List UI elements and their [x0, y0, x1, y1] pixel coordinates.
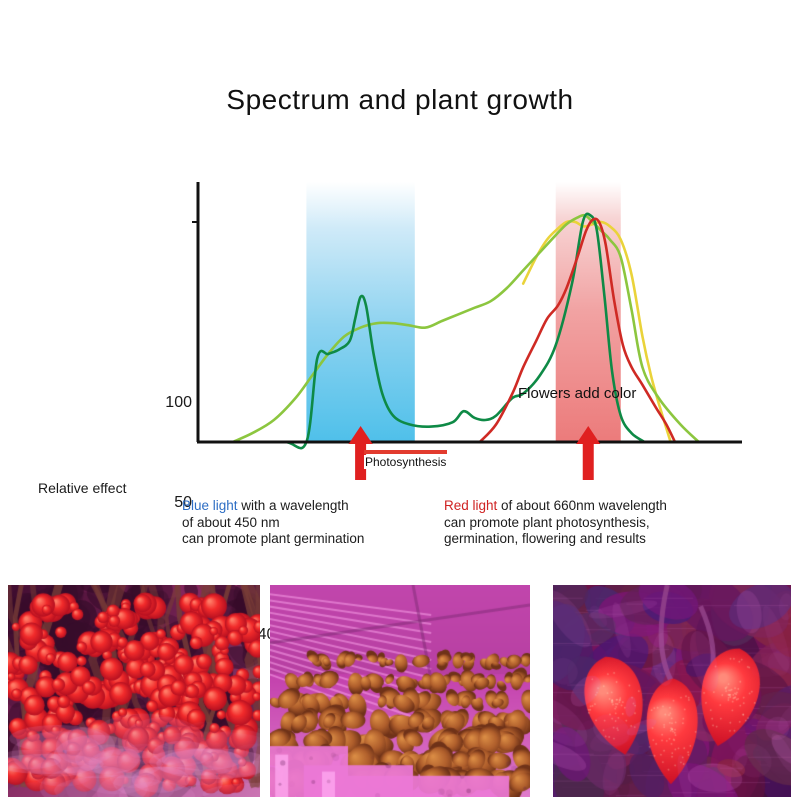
red-arrow-shaft	[583, 442, 594, 480]
caption-red-keyword: Red light	[444, 498, 497, 513]
caption-blue-keyword: Blue light	[182, 498, 238, 513]
photo-lettuce-canvas	[270, 585, 530, 797]
photo-tomatoes	[8, 585, 260, 797]
annotation-flowers-add-color: Flowers add color	[518, 385, 636, 402]
page-root: Spectrum and plant growth	[0, 0, 800, 800]
photo-strip	[0, 585, 800, 800]
blue-band	[306, 182, 414, 442]
photo-strawberries-canvas	[553, 585, 791, 797]
curve-1	[233, 215, 699, 442]
photosynthesis-text: Photosynthesis	[365, 455, 446, 469]
photosynthesis-accent-bar	[364, 450, 447, 454]
caption-red-light: Red light of about 660nm wavelength can …	[444, 498, 667, 548]
photo-strawberries	[553, 585, 791, 797]
chart-svg	[0, 180, 800, 480]
photo-lettuce-greenhouse	[270, 585, 530, 797]
page-title: Spectrum and plant growth	[0, 84, 800, 116]
caption-blue-light: Blue light with a wavelength of about 45…	[182, 498, 364, 548]
annotation-photosynthesis: Photosynthesis	[364, 455, 447, 469]
y-tick-100: 100	[152, 394, 192, 412]
spectrum-chart: Relative effect 100 50 300 400 500 600 7…	[0, 180, 800, 480]
spectral-curves	[233, 214, 699, 448]
photo-tomatoes-canvas	[8, 585, 260, 797]
y-axis-label: Relative effect	[38, 480, 126, 496]
